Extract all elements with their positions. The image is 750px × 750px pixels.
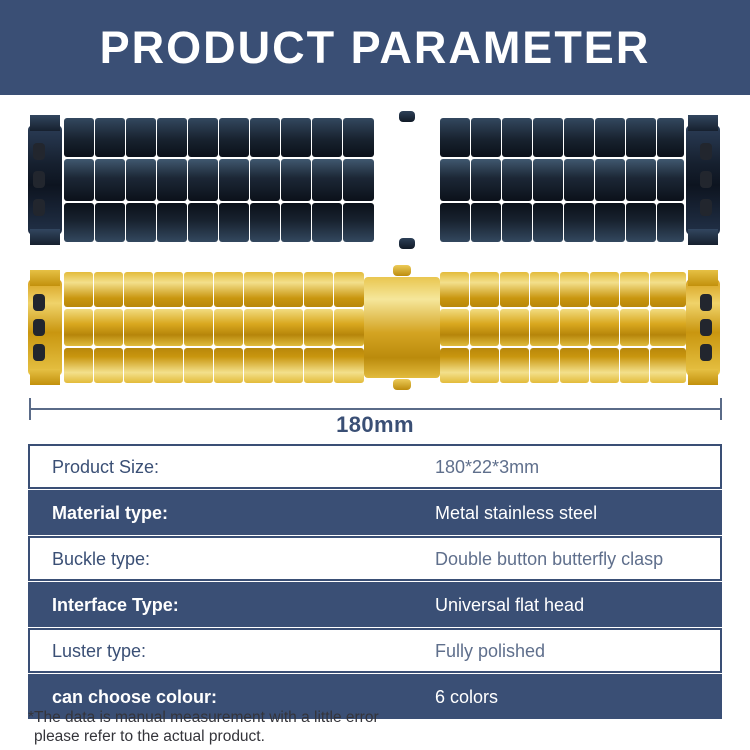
link-column [440, 115, 470, 245]
link-column [334, 270, 364, 385]
spec-label: Luster type: [52, 642, 146, 660]
page-title: PRODUCT PARAMETER [100, 25, 651, 70]
spec-label: Interface Type: [52, 596, 179, 614]
table-row: Material type: Metal stainless steel [28, 490, 722, 535]
link-column [274, 270, 303, 385]
link-column [560, 270, 589, 385]
lug-slot-icon [700, 143, 712, 160]
table-row: Interface Type: Universal flat head [28, 582, 722, 627]
link-column [124, 270, 153, 385]
lug-slot-icon [33, 199, 45, 216]
link-column [471, 115, 501, 245]
link-column [440, 270, 469, 385]
spec-table: Product Size: 180*22*3mm Material type: … [28, 444, 722, 720]
lug-slot-icon [33, 171, 45, 188]
spec-label: Product Size: [52, 458, 159, 476]
lug-slot-icon [700, 171, 712, 188]
link-column [620, 270, 649, 385]
link-column [564, 115, 594, 245]
table-row: Buckle type: Double button butterfly cla… [28, 536, 722, 581]
clasp-button-icon [393, 379, 411, 390]
strap-right-gold [440, 270, 686, 385]
lug-left-blue [28, 115, 62, 245]
link-column [470, 270, 499, 385]
clasp-button-icon [399, 111, 415, 122]
table-row: Product Size: 180*22*3mm [28, 444, 722, 489]
link-column [500, 270, 529, 385]
footnote: *The data is manual measurement with a l… [28, 708, 628, 746]
table-row: Luster type: Fully polished [28, 628, 722, 673]
link-column [219, 115, 249, 245]
link-column [595, 115, 625, 245]
link-column [533, 115, 563, 245]
link-column [250, 115, 280, 245]
spec-value: 6 colors [435, 688, 498, 706]
footnote-line-1: *The data is manual measurement with a l… [28, 708, 628, 727]
footnote-line-2: please refer to the actual product. [28, 727, 628, 746]
link-column [657, 115, 684, 245]
clasp-plate-icon [364, 277, 440, 378]
lug-right-blue [686, 115, 720, 245]
clasp-button-icon [393, 265, 411, 276]
clasp-plate-icon [374, 123, 440, 237]
watch-band-gold [28, 270, 722, 385]
link-column [64, 270, 93, 385]
link-column [157, 115, 187, 245]
dimension-line [29, 408, 722, 410]
spec-value: Universal flat head [435, 596, 584, 614]
link-column [343, 115, 374, 245]
lug-slot-icon [700, 199, 712, 216]
dimension-indicator: 180mm [0, 395, 750, 440]
lug-horn-bottom-icon [30, 229, 60, 245]
link-column [502, 115, 532, 245]
link-column [626, 115, 656, 245]
link-column [188, 115, 218, 245]
link-column [590, 270, 619, 385]
strap-right-blue [440, 115, 684, 245]
link-column [126, 115, 156, 245]
link-column [281, 115, 311, 245]
watch-band-blue [28, 115, 722, 245]
spec-value: Double button butterfly clasp [435, 550, 663, 568]
strap-left-blue [64, 115, 374, 245]
product-image-area [0, 95, 750, 395]
butterfly-clasp-gold [364, 270, 440, 385]
lug-horn-top-icon [688, 270, 718, 286]
link-column [214, 270, 243, 385]
link-column [530, 270, 559, 385]
lug-horn-top-icon [30, 115, 60, 131]
spec-label: Material type: [52, 504, 168, 522]
lug-right-gold [686, 270, 720, 385]
dimension-label: 180mm [0, 412, 750, 438]
link-column [244, 270, 273, 385]
lug-slot-icon [700, 319, 712, 336]
lug-slot-icon [33, 344, 45, 361]
strap-left-gold [64, 270, 364, 385]
link-column [64, 115, 94, 245]
spec-value: Fully polished [435, 642, 545, 660]
link-column [312, 115, 342, 245]
link-column [650, 270, 686, 385]
link-column [95, 115, 125, 245]
spec-label: can choose colour: [52, 688, 217, 706]
clasp-button-icon [399, 238, 415, 249]
lug-horn-top-icon [30, 270, 60, 286]
lug-left-gold [28, 270, 62, 385]
lug-horn-bottom-icon [688, 369, 718, 385]
link-column [154, 270, 183, 385]
lug-slot-icon [700, 344, 712, 361]
link-column [304, 270, 333, 385]
lug-horn-bottom-icon [688, 229, 718, 245]
spec-value: Metal stainless steel [435, 504, 597, 522]
page-header: PRODUCT PARAMETER [0, 0, 750, 95]
lug-slot-icon [33, 319, 45, 336]
lug-slot-icon [33, 143, 45, 160]
lug-horn-bottom-icon [30, 369, 60, 385]
lug-slot-icon [33, 294, 45, 311]
butterfly-clasp-blue [374, 115, 440, 245]
spec-label: Buckle type: [52, 550, 150, 568]
spec-value: 180*22*3mm [435, 458, 539, 476]
lug-horn-top-icon [688, 115, 718, 131]
link-column [94, 270, 123, 385]
lug-slot-icon [700, 294, 712, 311]
link-column [184, 270, 213, 385]
